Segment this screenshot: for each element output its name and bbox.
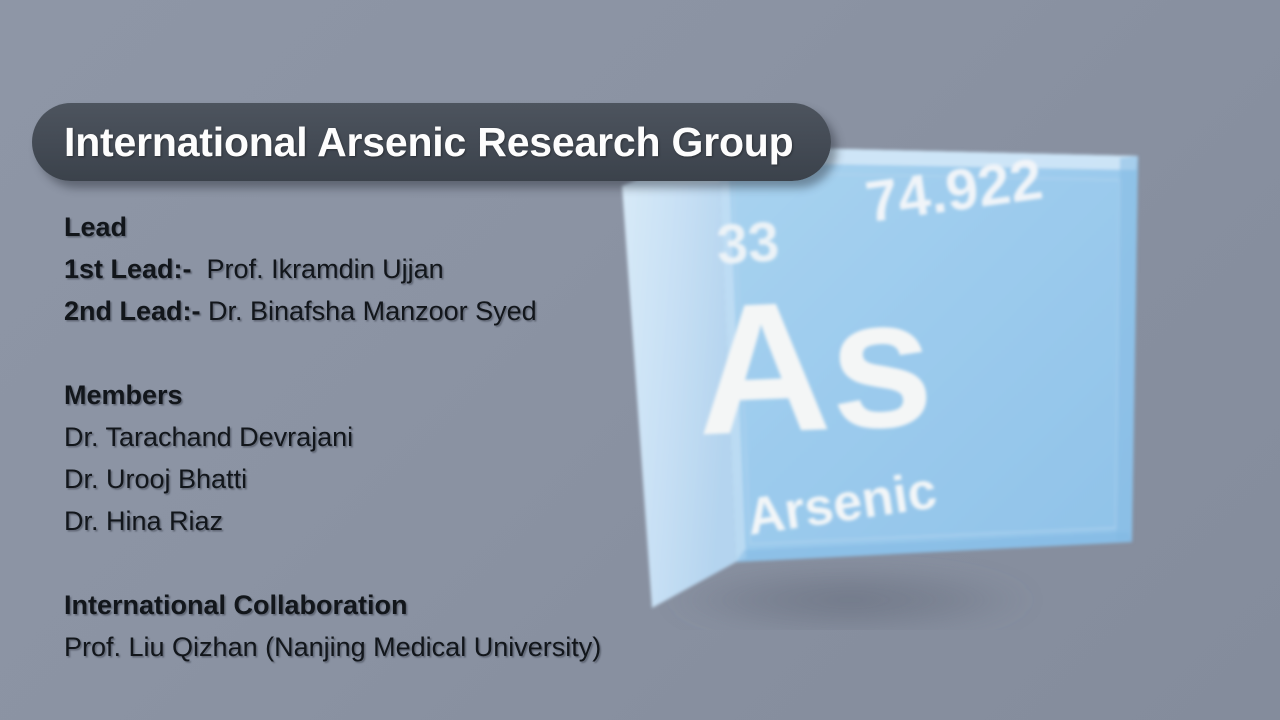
member-name: Dr. Urooj Bhatti: [64, 464, 247, 494]
slide-body-text: Lead 1st Lead:- Prof. Ikramdin Ujjan 2nd…: [64, 206, 764, 668]
lead-2-label: 2nd Lead:-: [64, 296, 201, 326]
spacer-1: [64, 332, 764, 374]
lead-1-label: 1st Lead:-: [64, 254, 192, 284]
cube-right-shading: [1116, 156, 1138, 542]
element-name-label: Arsenic: [743, 461, 940, 546]
atomic-mass-label: 74.922: [862, 146, 1047, 235]
members-heading: Members: [64, 374, 764, 416]
page-title: International Arsenic Research Group: [64, 119, 793, 166]
lead-2-row: 2nd Lead:- Dr. Binafsha Manzoor Syed: [64, 290, 764, 332]
lead-heading: Lead: [64, 206, 764, 248]
lead-1-row: 1st Lead:- Prof. Ikramdin Ujjan: [64, 248, 764, 290]
member-name: Dr. Tarachand Devrajani: [64, 422, 353, 452]
lead-heading-text: Lead: [64, 212, 127, 242]
collaboration-name: Prof. Liu Qizhan (Nanjing Medical Univer…: [64, 632, 601, 662]
spacer-2: [64, 542, 764, 584]
member-row: Dr. Urooj Bhatti: [64, 458, 764, 500]
member-name: Dr. Hina Riaz: [64, 506, 223, 536]
collaboration-row: Prof. Liu Qizhan (Nanjing Medical Univer…: [64, 626, 764, 668]
lead-1-name: Prof. Ikramdin Ujjan: [207, 254, 444, 284]
slide-title-banner: International Arsenic Research Group: [32, 103, 831, 181]
lead-2-name: Dr. Binafsha Manzoor Syed: [208, 296, 537, 326]
cube-front-face: [718, 146, 1138, 562]
collaboration-heading: International Collaboration: [64, 584, 764, 626]
member-row: Dr. Hina Riaz: [64, 500, 764, 542]
collaboration-heading-text: International Collaboration: [64, 590, 408, 620]
members-heading-text: Members: [64, 380, 183, 410]
slide-canvas: 33 74.922 As Arsenic International Arsen…: [0, 0, 1280, 720]
cube-bottom-shading: [736, 532, 1132, 562]
member-row: Dr. Tarachand Devrajani: [64, 416, 764, 458]
cube-inner-bevel: [733, 172, 1120, 544]
